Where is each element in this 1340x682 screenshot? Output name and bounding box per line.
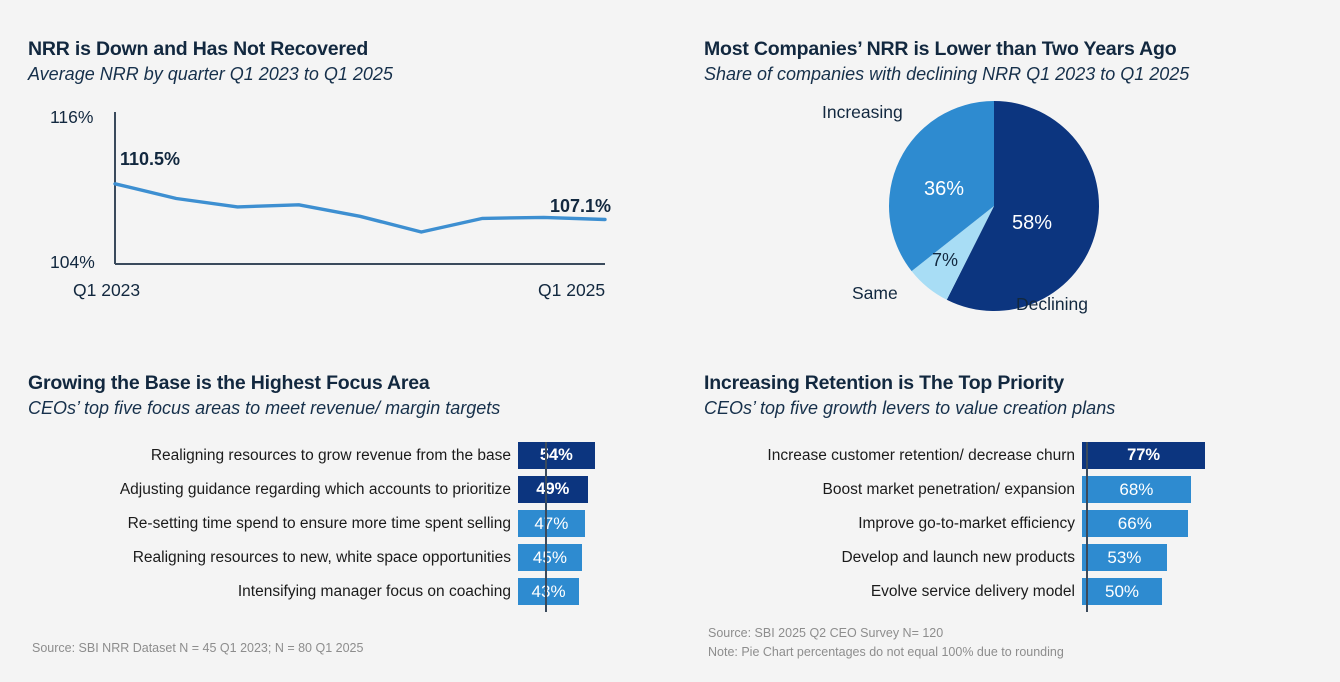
bar-row: Intensifying manager focus on coaching43… <box>28 578 668 605</box>
source-line: Source: SBI 2025 Q2 CEO Survey N= 120 <box>708 626 943 640</box>
source-note-growth-levers: Source: SBI 2025 Q2 CEO Survey N= 120 No… <box>708 624 1064 663</box>
panel-subtitle-nrr-share: Share of companies with declining NRR Q1… <box>704 64 1324 86</box>
bar-track: 77% <box>1082 442 1205 469</box>
nrr-line-series <box>115 184 605 232</box>
source-note-focus-areas: Source: SBI NRR Dataset N = 45 Q1 2023; … <box>32 639 363 658</box>
line-chart-nrr: 116% 104% Q1 2023 Q1 2025 110.5% 107.1% <box>28 104 668 314</box>
panel-nrr-share: Most Companies’ NRR is Lower than Two Ye… <box>704 38 1324 330</box>
bar-label: Boost market penetration/ expansion <box>704 481 1082 499</box>
panel-nrr-trend: NRR is Down and Has Not Recovered Averag… <box>28 38 668 314</box>
data-label-start: 110.5% <box>120 149 180 170</box>
panel-subtitle-focus-areas: CEOs’ top five focus areas to meet reven… <box>28 398 668 420</box>
y-axis-label-max: 116% <box>50 107 93 128</box>
note-line: Note: Pie Chart percentages do not equal… <box>708 645 1064 659</box>
bar-chart-growth-levers: Increase customer retention/ decrease ch… <box>704 442 1324 605</box>
bar-label: Adjusting guidance regarding which accou… <box>28 481 518 499</box>
panel-growth-levers: Increasing Retention is The Top Priority… <box>704 372 1324 612</box>
data-label-end: 107.1% <box>550 196 611 217</box>
panel-focus-areas: Growing the Base is the Highest Focus Ar… <box>28 372 668 612</box>
bar-row: Develop and launch new products53% <box>704 544 1324 571</box>
pie-label-same: Same <box>852 283 898 304</box>
bar-track: 53% <box>1082 544 1167 571</box>
bar-row: Evolve service delivery model50% <box>704 578 1324 605</box>
bar-fill: 50% <box>1082 578 1162 605</box>
bar-label: Evolve service delivery model <box>704 583 1082 601</box>
panel-title-nrr-share: Most Companies’ NRR is Lower than Two Ye… <box>704 38 1324 60</box>
panel-subtitle-growth-levers: CEOs’ top five growth levers to value cr… <box>704 398 1324 420</box>
bar-row: Improve go-to-market efficiency66% <box>704 510 1324 537</box>
bar-fill: 49% <box>518 476 588 503</box>
dashboard: NRR is Down and Has Not Recovered Averag… <box>0 0 1340 682</box>
bar-chart-baseline <box>1086 442 1088 612</box>
x-axis-label-end: Q1 2025 <box>538 280 605 301</box>
panel-title-focus-areas: Growing the Base is the Highest Focus Ar… <box>28 372 668 394</box>
bar-label: Re-setting time spend to ensure more tim… <box>28 515 518 533</box>
pie-value-increasing: 36% <box>924 178 964 201</box>
bar-track: 43% <box>518 578 579 605</box>
bar-chart-focus-areas: Realigning resources to grow revenue fro… <box>28 442 668 605</box>
bar-track: 66% <box>1082 510 1188 537</box>
panel-title-growth-levers: Increasing Retention is The Top Priority <box>704 372 1324 394</box>
pie-value-declining: 58% <box>1012 212 1052 235</box>
bar-label: Realigning resources to new, white space… <box>28 549 518 567</box>
pie-label-increasing: Increasing <box>822 102 903 123</box>
bar-fill: 54% <box>518 442 595 469</box>
bar-fill: 43% <box>518 578 579 605</box>
pie-value-same: 7% <box>932 250 958 271</box>
bar-label: Increase customer retention/ decrease ch… <box>704 447 1082 465</box>
bar-fill: 68% <box>1082 476 1191 503</box>
bar-fill: 47% <box>518 510 585 537</box>
bar-fill: 45% <box>518 544 582 571</box>
bar-row: Realigning resources to new, white space… <box>28 544 668 571</box>
panel-title-nrr-trend: NRR is Down and Has Not Recovered <box>28 38 668 60</box>
bar-track: 47% <box>518 510 585 537</box>
bar-track: 50% <box>1082 578 1162 605</box>
bar-row: Boost market penetration/ expansion68% <box>704 476 1324 503</box>
bar-chart-baseline <box>545 442 547 612</box>
bar-fill: 53% <box>1082 544 1167 571</box>
bar-fill: 66% <box>1082 510 1188 537</box>
x-axis-label-start: Q1 2023 <box>73 280 140 301</box>
bar-row: Adjusting guidance regarding which accou… <box>28 476 668 503</box>
bar-fill: 77% <box>1082 442 1205 469</box>
bar-track: 54% <box>518 442 595 469</box>
bar-row: Realigning resources to grow revenue fro… <box>28 442 668 469</box>
bar-row: Increase customer retention/ decrease ch… <box>704 442 1324 469</box>
bar-label: Improve go-to-market efficiency <box>704 515 1082 533</box>
bar-track: 45% <box>518 544 582 571</box>
panel-subtitle-nrr-trend: Average NRR by quarter Q1 2023 to Q1 202… <box>28 64 668 86</box>
bar-label: Develop and launch new products <box>704 549 1082 567</box>
bar-label: Intensifying manager focus on coaching <box>28 583 518 601</box>
pie-label-declining: Declining <box>1016 294 1088 315</box>
pie-chart-nrr-share: Increasing Same Declining 58% 36% 7% <box>704 98 1324 330</box>
bar-track: 49% <box>518 476 588 503</box>
bar-label: Realigning resources to grow revenue fro… <box>28 447 518 465</box>
y-axis-label-min: 104% <box>50 252 95 273</box>
bar-track: 68% <box>1082 476 1191 503</box>
bar-row: Re-setting time spend to ensure more tim… <box>28 510 668 537</box>
